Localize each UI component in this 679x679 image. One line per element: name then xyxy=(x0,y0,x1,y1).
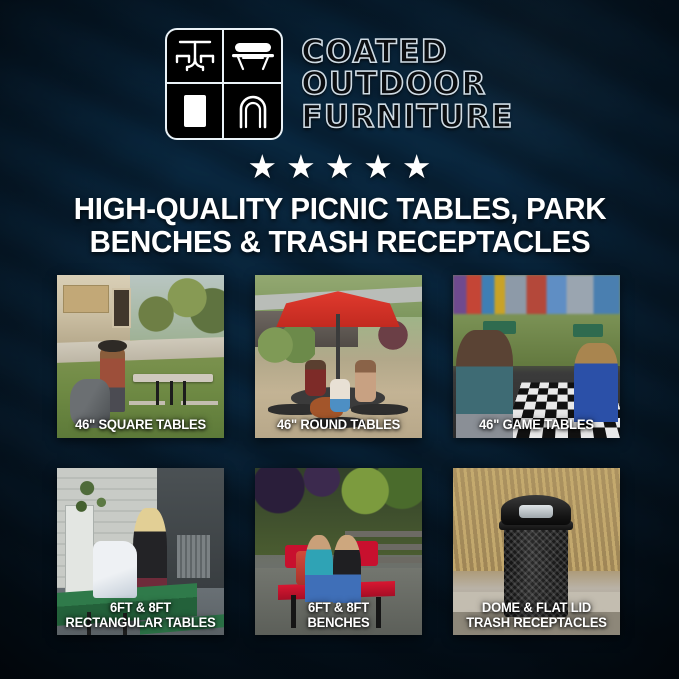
product-tile-trash-receptacles[interactable]: DOME & FLAT LID TRASH RECEPTACLES xyxy=(453,468,620,635)
picnic-table-icon xyxy=(167,30,224,84)
brand-wordmark: COATED OUTDOOR FURNITURE xyxy=(301,35,514,134)
wordmark-line-3: FURNITURE xyxy=(301,102,514,134)
wordmark-line-1: COATED xyxy=(301,37,514,69)
caption-line: 46" SQUARE TABLES xyxy=(60,418,220,432)
star-icon: ★ xyxy=(325,152,355,182)
headline: HIGH-QUALITY PICNIC TABLES, PARK BENCHES… xyxy=(55,192,625,259)
star-icon: ★ xyxy=(402,152,432,182)
star-icon: ★ xyxy=(286,152,316,182)
star-rating: ★ ★ ★ ★ ★ xyxy=(248,152,432,182)
product-tile-game-tables[interactable]: 46" GAME TABLES xyxy=(453,275,620,438)
product-photo-square-tables xyxy=(57,275,224,438)
product-tile-rectangular-tables[interactable]: 6FT & 8FT RECTANGULAR TABLES xyxy=(57,468,224,635)
caption-line: 46" GAME TABLES xyxy=(456,418,616,432)
product-caption-game-tables: 46" GAME TABLES xyxy=(456,418,616,432)
product-photo-round-tables xyxy=(255,275,422,438)
logo-icon-grid xyxy=(165,28,283,140)
product-grid: 46" SQUARE TABLES xyxy=(57,275,623,635)
product-tile-benches[interactable]: 6FT & 8FT BENCHES xyxy=(255,468,422,635)
bike-rack-icon xyxy=(224,84,281,138)
product-caption-rectangular-tables: 6FT & 8FT RECTANGULAR TABLES xyxy=(60,601,220,630)
trash-receptacle-icon xyxy=(167,84,224,138)
product-tile-round-tables[interactable]: 46" ROUND TABLES xyxy=(255,275,422,438)
caption-line: 46" ROUND TABLES xyxy=(258,418,418,432)
product-photo-game-tables xyxy=(453,275,620,438)
caption-line: BENCHES xyxy=(258,616,418,630)
wordmark-line-2: OUTDOOR xyxy=(301,69,514,101)
park-bench-icon xyxy=(224,30,281,84)
product-caption-trash-receptacles: DOME & FLAT LID TRASH RECEPTACLES xyxy=(456,601,616,630)
brand-logo: COATED OUTDOOR FURNITURE xyxy=(165,26,514,142)
promo-banner: COATED OUTDOOR FURNITURE ★ ★ ★ ★ ★ HIGH-… xyxy=(0,0,679,679)
star-icon: ★ xyxy=(363,152,393,182)
product-tile-square-tables[interactable]: 46" SQUARE TABLES xyxy=(57,275,224,438)
caption-line: TRASH RECEPTACLES xyxy=(456,616,616,630)
headline-line-2: BENCHES & TRASH RECEPTACLES xyxy=(55,225,625,258)
star-icon: ★ xyxy=(248,152,278,182)
product-caption-round-tables: 46" ROUND TABLES xyxy=(258,418,418,432)
product-caption-square-tables: 46" SQUARE TABLES xyxy=(60,418,220,432)
product-caption-benches: 6FT & 8FT BENCHES xyxy=(258,601,418,630)
headline-line-1: HIGH-QUALITY PICNIC TABLES, PARK xyxy=(55,192,625,225)
caption-line: RECTANGULAR TABLES xyxy=(60,616,220,630)
banner-content: COATED OUTDOOR FURNITURE ★ ★ ★ ★ ★ HIGH-… xyxy=(0,0,679,679)
